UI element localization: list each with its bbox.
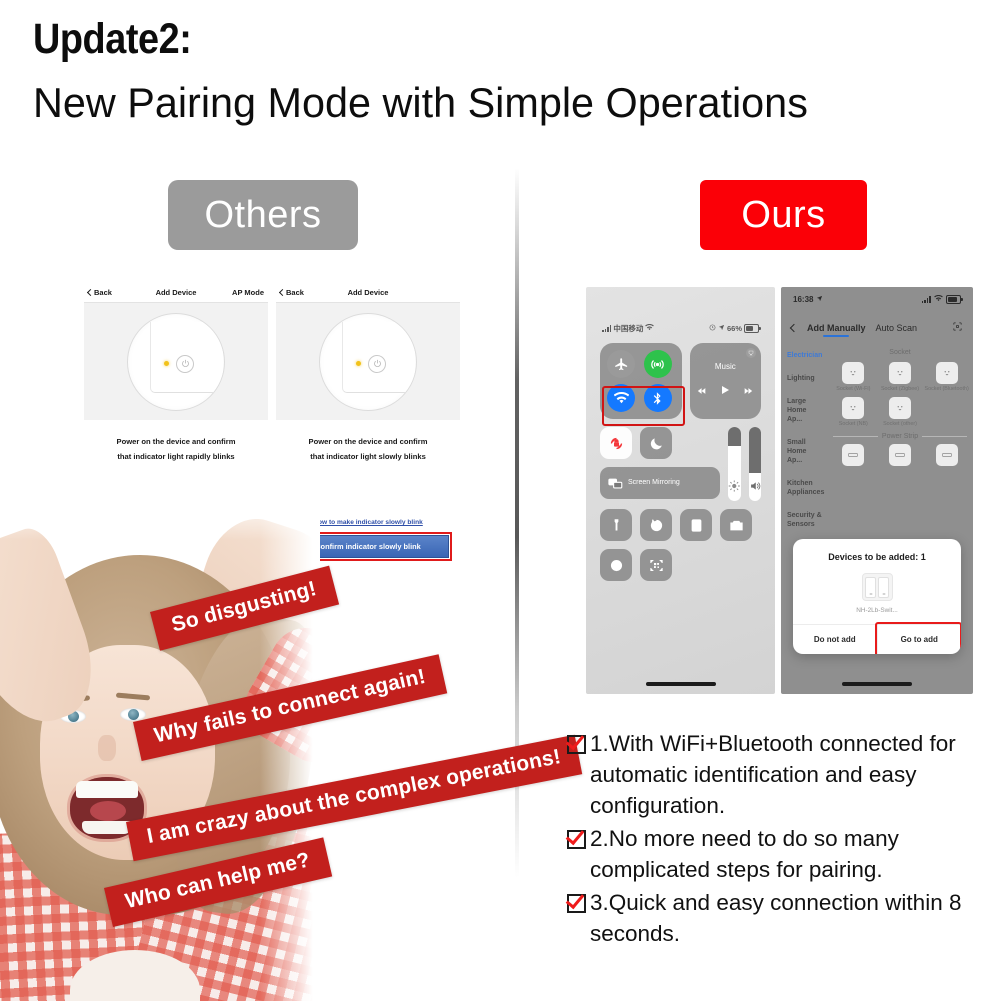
- next-track-icon[interactable]: [743, 383, 753, 401]
- category-header-power-strip: Power Strip: [833, 433, 967, 440]
- cellular-signal-icon: [602, 325, 611, 332]
- iphone-control-center-screenshot: 中国移动 66%: [586, 287, 775, 694]
- feature-list: 1.With WiFi+Bluetooth connected for auto…: [567, 728, 992, 951]
- power-button-icon: [368, 355, 386, 373]
- socket-icon: [889, 397, 911, 419]
- back-button[interactable]: Back: [280, 288, 304, 297]
- device-name: Socket (Wi-Fi): [831, 386, 876, 393]
- location-icon: [816, 295, 823, 304]
- status-bar-right: [922, 295, 961, 304]
- feature-item-3: 3.Quick and easy connection within 8 sec…: [567, 887, 992, 949]
- discovered-device[interactable]: NH-2Lb-Swit...: [793, 562, 961, 624]
- device-tile[interactable]: Socket (Bluetooth): [924, 362, 969, 393]
- sidebar-item-lighting[interactable]: Lighting: [781, 374, 827, 383]
- feature-item-1: 1.With WiFi+Bluetooth connected for auto…: [567, 728, 992, 821]
- screen-record-icon[interactable]: [600, 549, 632, 581]
- sidebar-item-large-home-appliances[interactable]: Large Home Ap...: [781, 397, 827, 424]
- go-to-add-button[interactable]: Go to add: [878, 625, 962, 654]
- app-navbar: Back Add Device AP Mode: [84, 283, 268, 303]
- device-tile[interactable]: Socket (Zigbee): [878, 362, 923, 393]
- feature-item-2: 2.No more need to do so many complicated…: [567, 823, 992, 885]
- cc-row-top: Music: [600, 343, 761, 419]
- checkbox-checked-icon: [567, 735, 586, 754]
- socket-device-grid: Socket (Wi-Fi) Socket (Zigbee) Socket (B…: [831, 362, 969, 427]
- chevron-left-icon: [279, 289, 286, 296]
- home-indicator: [646, 682, 716, 686]
- sidebar-item-small-home-appliances[interactable]: Small Home Ap...: [781, 438, 827, 465]
- socket-icon: [936, 362, 958, 384]
- instruction-line2: that indicator light slowly blinks: [280, 449, 456, 464]
- camera-icon[interactable]: [720, 509, 752, 541]
- device-tile[interactable]: Socket (NB): [831, 397, 876, 428]
- do-not-disturb-toggle[interactable]: [640, 427, 672, 459]
- power-button-icon: [176, 355, 194, 373]
- chevron-left-icon: [87, 289, 94, 296]
- badge-ours: Ours: [700, 180, 867, 250]
- devices-to-add-dialog: Devices to be added: 1 NH-2Lb-Swit... Do…: [793, 539, 961, 654]
- brightness-fill: [728, 427, 741, 446]
- device-name: Socket (Zigbee): [878, 386, 923, 393]
- power-strip-icon: [936, 444, 958, 466]
- photo-nose: [98, 735, 116, 761]
- wifi-status-icon: [645, 324, 654, 333]
- status-bar: 中国移动 66%: [586, 323, 775, 334]
- checkbox-checked-icon: [567, 830, 586, 849]
- cellular-data-toggle[interactable]: [644, 350, 672, 378]
- category-header-socket: Socket: [831, 349, 969, 356]
- clock-time: 16:38: [793, 295, 813, 304]
- device-name: Socket (Bluetooth): [924, 386, 969, 393]
- status-bar-left: 16:38: [793, 295, 823, 304]
- badge-others: Others: [168, 180, 358, 250]
- screen-mirroring-button[interactable]: Screen Mirroring: [600, 467, 720, 499]
- ap-mode-button[interactable]: AP Mode: [232, 288, 264, 297]
- indicator-led-icon: [356, 361, 361, 366]
- do-not-add-button[interactable]: Do not add: [793, 625, 878, 654]
- previous-track-icon[interactable]: [697, 383, 707, 401]
- location-icon: [718, 324, 725, 333]
- switch-device-icon: [862, 573, 893, 601]
- alarm-icon: [709, 324, 716, 333]
- music-widget[interactable]: Music: [690, 343, 761, 419]
- volume-icon: [749, 479, 762, 493]
- photo-iris-right: [128, 709, 139, 720]
- sidebar-item-kitchen-appliances[interactable]: Kitchen Appliances: [781, 479, 827, 497]
- back-button[interactable]: Back: [88, 288, 112, 297]
- instruction-line2: that indicator light rapidly blinks: [88, 449, 264, 464]
- instruction-line1: Power on the device and confirm: [280, 434, 456, 449]
- dialog-title: Devices to be added: 1: [793, 539, 961, 562]
- rotation-lock-toggle[interactable]: [600, 427, 632, 459]
- photo-teeth-top: [76, 781, 138, 798]
- sidebar-item-electrician[interactable]: Electrician: [781, 351, 827, 360]
- instruction-line1: Power on the device and confirm: [88, 434, 264, 449]
- power-strip-grid: [831, 444, 969, 468]
- device-illustration: [276, 303, 460, 420]
- status-bar: 16:38: [781, 295, 973, 304]
- device-name: Socket (other): [878, 421, 923, 428]
- power-strip-icon: [889, 444, 911, 466]
- device-tile[interactable]: Socket (Wi-Fi): [831, 362, 876, 393]
- smart-app-add-device-screenshot: 16:38 Add Manually Auto Scan Electrician…: [781, 287, 973, 694]
- dialog-actions: Do not add Go to add: [793, 624, 961, 654]
- app-navigation-bar: Add Manually Auto Scan: [781, 317, 973, 339]
- battery-icon: [744, 324, 759, 333]
- photo-tongue: [90, 801, 126, 821]
- indicator-led-icon: [164, 361, 169, 366]
- device-tile[interactable]: [831, 444, 876, 468]
- screen-mirroring-label: Screen Mirroring: [628, 479, 680, 487]
- battery-percent: 66%: [727, 324, 742, 333]
- device-magnifier-circle: [319, 313, 417, 411]
- airplane-mode-toggle[interactable]: [607, 350, 635, 378]
- scan-qr-icon[interactable]: [952, 319, 963, 337]
- tab-add-manually[interactable]: Add Manually: [807, 323, 866, 333]
- qr-scan-icon[interactable]: [640, 549, 672, 581]
- volume-slider[interactable]: [749, 427, 762, 501]
- back-icon[interactable]: [790, 324, 798, 332]
- app-navbar: Back Add Device: [276, 283, 460, 303]
- brightness-slider[interactable]: [728, 427, 741, 501]
- device-tile[interactable]: Socket (other): [878, 397, 923, 428]
- connectivity-module: [600, 343, 682, 419]
- wifi-toggle[interactable]: [607, 384, 635, 412]
- cc-row-shortcuts-2: [600, 549, 761, 581]
- battery-icon: [946, 295, 961, 304]
- play-icon[interactable]: [719, 383, 731, 401]
- instruction-text: Power on the device and confirm that ind…: [276, 420, 460, 464]
- status-bar-right: 66%: [709, 324, 759, 333]
- airplay-icon[interactable]: [746, 348, 756, 358]
- music-label: Music: [715, 362, 736, 371]
- home-indicator: [842, 682, 912, 686]
- back-label: Back: [286, 288, 304, 297]
- volume-fill: [749, 427, 762, 473]
- socket-icon: [842, 362, 864, 384]
- category-label: Power Strip: [882, 433, 918, 440]
- device-tile[interactable]: [924, 444, 969, 468]
- music-controls: [697, 383, 753, 401]
- tab-auto-scan[interactable]: Auto Scan: [876, 323, 918, 333]
- socket-icon: [889, 362, 911, 384]
- device-name: Socket (NB): [831, 421, 876, 428]
- device-tile[interactable]: [878, 444, 923, 468]
- device-magnifier-circle: [127, 313, 225, 411]
- checkbox-checked-icon: [567, 894, 586, 913]
- page-header: Update2: New Pairing Mode with Simple Op…: [33, 14, 983, 130]
- back-label: Back: [94, 288, 112, 297]
- feature-text: 3.Quick and easy connection within 8 sec…: [590, 887, 992, 949]
- cc-row-shortcuts-1: [600, 509, 761, 541]
- device-id-label: NH-2Lb-Swit...: [856, 607, 898, 614]
- feature-text: 1.With WiFi+Bluetooth connected for auto…: [590, 728, 992, 821]
- photo-teeth-bottom: [82, 821, 132, 834]
- power-strip-icon: [842, 444, 864, 466]
- calculator-icon[interactable]: [680, 509, 712, 541]
- cellular-signal-icon: [922, 296, 931, 303]
- carrier-name: 中国移动: [613, 323, 643, 334]
- wifi-status-icon: [934, 295, 943, 304]
- page-title-line1: Update2:: [33, 14, 869, 64]
- status-bar-left: 中国移动: [602, 323, 654, 334]
- bluetooth-toggle[interactable]: [644, 384, 672, 412]
- brightness-icon: [728, 479, 741, 493]
- instruction-text: Power on the device and confirm that ind…: [84, 420, 268, 464]
- page-title-line2: New Pairing Mode with Simple Operations: [33, 76, 969, 130]
- socket-icon: [842, 397, 864, 419]
- feature-text: 2.No more need to do so many complicated…: [590, 823, 992, 885]
- sidebar-item-security-sensors[interactable]: Security & Sensors: [781, 511, 827, 529]
- control-center-grid: Music: [600, 343, 761, 589]
- cc-row-middle: Screen Mirroring: [600, 427, 761, 501]
- flashlight-toggle[interactable]: [600, 509, 632, 541]
- device-illustration: [84, 303, 268, 420]
- timer-icon[interactable]: [640, 509, 672, 541]
